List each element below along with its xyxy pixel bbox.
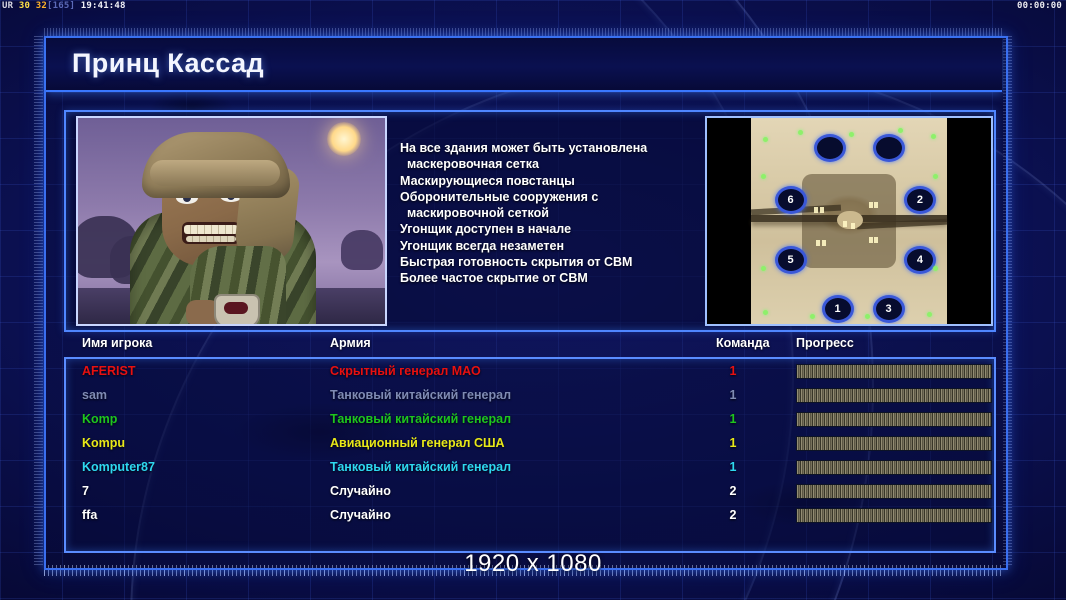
minimap-resource — [763, 310, 768, 315]
portrait-mouth — [182, 222, 240, 244]
minimap-start-slot[interactable]: 5 — [775, 246, 807, 274]
player-team: 1 — [723, 383, 743, 407]
minimap-resource — [933, 266, 938, 271]
player-team: 1 — [723, 431, 743, 455]
description-line: Оборонительные сооружения с — [400, 189, 700, 205]
minimap-start-slot[interactable]: 4 — [904, 246, 936, 274]
minimap-resource — [898, 128, 903, 133]
portrait-teeth — [184, 225, 238, 234]
game-timer: 00:00:00 — [1017, 0, 1062, 13]
player-progress-bar — [796, 388, 992, 403]
player-progress-bar — [796, 436, 992, 451]
portrait-headscarf-fold — [150, 160, 280, 186]
player-name: AFERIST — [82, 359, 135, 383]
player-team: 1 — [723, 455, 743, 479]
player-list: AFERISTСкрытный генерал МАО1samТанковый … — [66, 359, 990, 527]
player-progress-bar — [796, 460, 992, 475]
player-team: 1 — [723, 359, 743, 383]
resolution-label: 1920 x 1080 — [0, 550, 1066, 578]
player-name: Komputer87 — [82, 455, 155, 479]
table-row[interactable]: KompuАвиационный генерал США1 — [66, 431, 990, 455]
minimap-start-slot[interactable]: 3 — [873, 295, 905, 323]
page-title: Принц Кассад — [72, 48, 264, 79]
minimap-start-slot[interactable]: 1 — [822, 295, 854, 323]
minimap[interactable]: 625413 — [705, 116, 993, 326]
table-row[interactable]: Komputer87Танковый китайский генерал1 — [66, 455, 990, 479]
player-name: 7 — [82, 479, 89, 503]
minimap-resource — [927, 312, 932, 317]
ruler-left — [34, 36, 43, 566]
table-row[interactable]: ffaСлучайно2 — [66, 503, 990, 527]
description-line: маскеровочная сетка — [400, 156, 700, 172]
player-progress-bar — [796, 364, 992, 379]
player-army: Танковый китайский генерал — [330, 407, 511, 431]
minimap-start-slot[interactable] — [873, 134, 905, 162]
portrait-sun — [327, 122, 361, 156]
description-line: Маскирующиеся повстанцы — [400, 173, 700, 189]
minimap-resource — [798, 130, 803, 135]
table-row[interactable]: 7Случайно2 — [66, 479, 990, 503]
player-army: Танковый китайский генерал — [330, 455, 511, 479]
minimap-structure — [869, 237, 873, 243]
player-team: 2 — [723, 503, 743, 527]
minimap-structure — [851, 223, 855, 229]
status-num-2: 32 — [36, 1, 47, 11]
column-header-name: Имя игрока — [82, 336, 152, 350]
status-clock: 19:41:48 — [81, 1, 126, 11]
player-name: Komp — [82, 407, 117, 431]
description-line: маскировочной сеткой — [400, 205, 700, 221]
player-team: 2 — [723, 479, 743, 503]
minimap-resource — [849, 132, 854, 137]
minimap-resource — [763, 137, 768, 142]
minimap-resource — [933, 174, 938, 179]
player-army: Авиационный генерал США — [330, 431, 505, 455]
player-name: Kompu — [82, 431, 125, 455]
minimap-resource — [761, 174, 766, 179]
minimap-resource — [865, 314, 870, 319]
table-row[interactable]: AFERISTСкрытный генерал МАО1 — [66, 359, 990, 383]
table-row[interactable]: KompТанковый китайский генерал1 — [66, 407, 990, 431]
minimap-resource — [810, 314, 815, 319]
general-description: На все здания может быть установлена мас… — [400, 140, 700, 287]
description-line: Угонщик всегда незаметен — [400, 238, 700, 254]
column-header-progress: Прогресс — [796, 336, 854, 350]
player-name: sam — [82, 383, 107, 407]
minimap-start-slot[interactable]: 6 — [775, 186, 807, 214]
player-progress-bar — [796, 484, 992, 499]
general-portrait — [76, 116, 387, 326]
portrait-teapot — [214, 294, 260, 326]
top-status-bar: UR 30 32[165] 19:41:48 00:00:00 — [0, 0, 1066, 13]
player-army: Скрытный генерал МАО — [330, 359, 481, 383]
player-name: ffa — [82, 503, 97, 527]
player-army: Случайно — [330, 503, 391, 527]
column-header-team: Команда — [716, 336, 770, 350]
player-progress-bar — [796, 508, 992, 523]
player-progress-bar — [796, 412, 992, 427]
minimap-structure — [874, 202, 878, 208]
minimap-structure — [874, 237, 878, 243]
game-lobby-screen: UR 30 32[165] 19:41:48 00:00:00 Принц Ка… — [0, 0, 1066, 600]
description-line: Быстрая готовность скрытия от СВМ — [400, 254, 700, 270]
description-line: На все здания может быть установлена — [400, 140, 700, 156]
minimap-structure — [869, 202, 873, 208]
description-line: Более частое скрытие от СВМ — [400, 270, 700, 286]
minimap-structure — [816, 240, 820, 246]
status-bracket: [165] — [47, 1, 75, 11]
minimap-structure — [814, 207, 818, 213]
player-list-header: Имя игрока Армия Команда Прогресс — [64, 336, 992, 358]
minimap-start-slot[interactable]: 2 — [904, 186, 936, 214]
minimap-structure — [820, 207, 824, 213]
status-num-1: 30 — [19, 1, 30, 11]
status-left: UR 30 32[165] 19:41:48 — [2, 0, 126, 13]
minimap-structure — [843, 221, 847, 227]
status-tag: UR — [2, 1, 13, 11]
player-army: Танковый китайский генерал — [330, 383, 511, 407]
column-header-army: Армия — [330, 336, 371, 350]
minimap-resource — [761, 266, 766, 271]
minimap-resource — [931, 134, 936, 139]
minimap-structure — [822, 240, 826, 246]
minimap-terrain: 625413 — [751, 118, 947, 324]
portrait-teeth-lower — [186, 236, 236, 242]
minimap-start-slot[interactable] — [814, 134, 846, 162]
player-team: 1 — [723, 407, 743, 431]
portrait-foliage — [341, 230, 383, 270]
description-line: Угонщик доступен в начале — [400, 221, 700, 237]
player-army: Случайно — [330, 479, 391, 503]
table-row[interactable]: samТанковый китайский генерал1 — [66, 383, 990, 407]
